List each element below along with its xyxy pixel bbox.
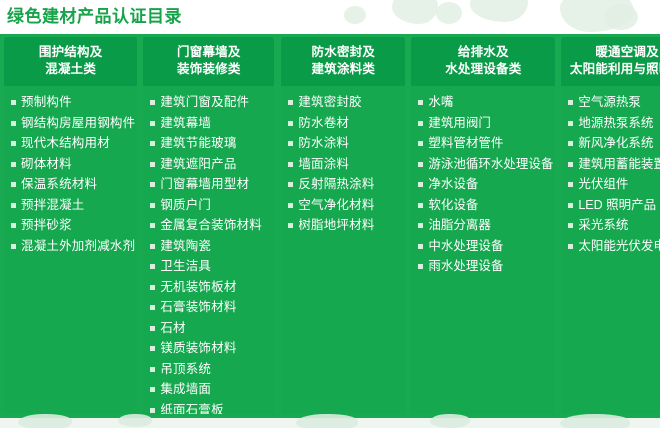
list-item[interactable]: 软化设备 — [411, 197, 555, 214]
list-item-label: 保温系统材料 — [21, 176, 97, 193]
category-column-header[interactable]: 围护结构及混凝土类 — [4, 37, 137, 86]
category-item-list: 空气源热泵地源热泵系统新风净化系统建筑用蓄能装置光伏组件LED 照明产品采光系统… — [561, 86, 660, 414]
list-item[interactable]: 建筑门窗及配件 — [143, 94, 274, 111]
category-item-list: 建筑门窗及配件建筑幕墙建筑节能玻璃建筑遮阳产品门窗幕墙用型材钢质户门金属复合装饰… — [143, 86, 274, 414]
list-item-label: 镁质装饰材料 — [160, 340, 236, 357]
category-item-list: 预制构件钢结构房屋用钢构件现代木结构用材砌体材料保温系统材料预拌混凝土预拌砂浆混… — [4, 86, 137, 414]
list-item-label: 防水涂料 — [298, 135, 349, 152]
list-item[interactable]: 中水处理设备 — [411, 238, 555, 255]
category-header-line: 水处理设备类 — [413, 61, 553, 78]
list-item-label: 建筑用蓄能装置 — [578, 156, 660, 173]
list-item-label: 钢结构房屋用钢构件 — [21, 115, 135, 132]
list-item-label: 建筑幕墙 — [160, 115, 211, 132]
page-title: 绿色建材产品认证目录 — [7, 6, 182, 28]
category-header-line: 装饰装修类 — [145, 61, 272, 78]
list-item-label: 建筑密封胶 — [298, 94, 362, 111]
category-column: 给排水及水处理设备类水嘴建筑用阀门塑料管材管件游泳池循环水处理设备净水设备软化设… — [411, 37, 555, 414]
category-column: 防水密封及建筑涂料类建筑密封胶防水卷材防水涂料墙面涂料反射隔热涂料空气净化材料树… — [281, 37, 405, 414]
watermark-blob — [470, 0, 528, 22]
list-item[interactable]: 吊顶系统 — [143, 361, 274, 378]
square-bullet-icon — [288, 121, 293, 126]
list-item-label: 中水处理设备 — [428, 238, 503, 255]
square-bullet-icon — [11, 100, 16, 105]
list-item[interactable]: 建筑用蓄能装置 — [561, 156, 660, 173]
category-item-list: 水嘴建筑用阀门塑料管材管件游泳池循环水处理设备净水设备软化设备油脂分离器中水处理… — [411, 86, 555, 414]
list-item[interactable]: 保温系统材料 — [4, 176, 137, 193]
list-item[interactable]: 塑料管材管件 — [411, 135, 555, 152]
square-bullet-icon — [418, 100, 423, 105]
list-item[interactable]: 砌体材料 — [4, 156, 137, 173]
list-item[interactable]: 建筑陶瓷 — [143, 238, 274, 255]
square-bullet-icon — [150, 244, 155, 249]
square-bullet-icon — [11, 223, 16, 228]
list-item-label: 塑料管材管件 — [428, 135, 503, 152]
list-item[interactable]: LED 照明产品 — [561, 197, 660, 214]
list-item-label: 砌体材料 — [21, 156, 72, 173]
list-item-label: 空气净化材料 — [298, 197, 374, 214]
square-bullet-icon — [150, 264, 155, 269]
list-item[interactable]: 镁质装饰材料 — [143, 340, 274, 357]
list-item[interactable]: 净水设备 — [411, 176, 555, 193]
list-item-label: 油脂分离器 — [428, 217, 491, 234]
square-bullet-icon — [568, 182, 573, 187]
list-item-label: 太阳能光伏发电系统 — [578, 238, 660, 255]
square-bullet-icon — [418, 182, 423, 187]
list-item[interactable]: 雨水处理设备 — [411, 258, 555, 275]
list-item-label: 建筑遮阳产品 — [160, 156, 236, 173]
list-item-label: 石材 — [160, 320, 185, 337]
catalog-board: 围护结构及混凝土类预制构件钢结构房屋用钢构件现代木结构用材砌体材料保温系统材料预… — [0, 34, 660, 418]
square-bullet-icon — [288, 141, 293, 146]
category-column: 暖通空调及太阳能利用与照明类空气源热泵地源热泵系统新风净化系统建筑用蓄能装置光伏… — [561, 37, 660, 414]
watermark-blob — [344, 6, 366, 24]
list-item-label: LED 照明产品 — [578, 197, 656, 214]
list-item[interactable]: 无机装饰板材 — [143, 279, 274, 296]
square-bullet-icon — [418, 223, 423, 228]
square-bullet-icon — [288, 182, 293, 187]
square-bullet-icon — [568, 223, 573, 228]
category-item-list: 建筑密封胶防水卷材防水涂料墙面涂料反射隔热涂料空气净化材料树脂地坪材料 — [281, 86, 405, 414]
square-bullet-icon — [11, 141, 16, 146]
list-item[interactable]: 纸面石膏板 — [143, 402, 274, 415]
category-column-header[interactable]: 防水密封及建筑涂料类 — [281, 37, 405, 86]
category-header-line: 太阳能利用与照明类 — [563, 61, 660, 78]
square-bullet-icon — [568, 141, 573, 146]
list-item-label: 防水卷材 — [298, 115, 349, 132]
square-bullet-icon — [568, 203, 573, 208]
square-bullet-icon — [418, 264, 423, 269]
list-item[interactable]: 防水卷材 — [281, 115, 405, 132]
list-item-label: 钢质户门 — [160, 197, 211, 214]
square-bullet-icon — [150, 182, 155, 187]
list-item[interactable]: 建筑用阀门 — [411, 115, 555, 132]
square-bullet-icon — [288, 203, 293, 208]
category-header-line: 建筑涂料类 — [283, 61, 403, 78]
square-bullet-icon — [418, 244, 423, 249]
list-item[interactable]: 游泳池循环水处理设备 — [411, 156, 555, 173]
list-item-label: 光伏组件 — [578, 176, 628, 193]
list-item[interactable]: 金属复合装饰材料 — [143, 217, 274, 234]
list-item[interactable]: 集成墙面 — [143, 381, 274, 398]
list-item[interactable]: 水嘴 — [411, 94, 555, 111]
list-item-label: 金属复合装饰材料 — [160, 217, 262, 234]
square-bullet-icon — [288, 100, 293, 105]
square-bullet-icon — [150, 326, 155, 331]
category-column-header[interactable]: 门窗幕墙及装饰装修类 — [143, 37, 274, 86]
list-item[interactable]: 预拌砂浆 — [4, 217, 137, 234]
list-item-label: 混凝土外加剂减水剂 — [21, 238, 135, 255]
list-item-label: 卫生洁具 — [160, 258, 211, 275]
list-item-label: 预拌砂浆 — [21, 217, 72, 234]
list-item[interactable]: 新风净化系统 — [561, 135, 660, 152]
list-item[interactable]: 预拌混凝土 — [4, 197, 137, 214]
list-item[interactable]: 石材 — [143, 320, 274, 337]
category-column-header[interactable]: 给排水及水处理设备类 — [411, 37, 555, 86]
square-bullet-icon — [150, 141, 155, 146]
list-item-label: 空气源热泵 — [578, 94, 641, 111]
list-item[interactable]: 石膏装饰材料 — [143, 299, 274, 316]
square-bullet-icon — [288, 223, 293, 228]
list-item[interactable]: 防水涂料 — [281, 135, 405, 152]
list-item[interactable]: 地源热泵系统 — [561, 115, 660, 132]
watermark-blob — [296, 414, 358, 428]
square-bullet-icon — [418, 203, 423, 208]
list-item[interactable]: 建筑遮阳产品 — [143, 156, 274, 173]
list-item-label: 吊顶系统 — [160, 361, 211, 378]
list-item-label: 软化设备 — [428, 197, 478, 214]
list-item-label: 建筑用阀门 — [428, 115, 491, 132]
watermark-blob — [430, 414, 470, 428]
category-column: 围护结构及混凝土类预制构件钢结构房屋用钢构件现代木结构用材砌体材料保温系统材料预… — [4, 37, 137, 414]
list-item[interactable]: 太阳能光伏发电系统 — [561, 238, 660, 255]
list-item-label: 现代木结构用材 — [21, 135, 110, 152]
list-item-label: 预拌混凝土 — [21, 197, 85, 214]
list-item[interactable]: 卫生洁具 — [143, 258, 274, 275]
list-item-label: 水嘴 — [428, 94, 453, 111]
square-bullet-icon — [418, 141, 423, 146]
square-bullet-icon — [11, 162, 16, 167]
list-item-label: 净水设备 — [428, 176, 478, 193]
list-item[interactable]: 空气净化材料 — [281, 197, 405, 214]
category-header-line: 门窗幕墙及 — [145, 44, 272, 61]
square-bullet-icon — [568, 100, 573, 105]
list-item[interactable]: 钢结构房屋用钢构件 — [4, 115, 137, 132]
category-column-header[interactable]: 暖通空调及太阳能利用与照明类 — [561, 37, 660, 86]
watermark-blob — [118, 414, 152, 427]
square-bullet-icon — [11, 244, 16, 249]
list-item[interactable]: 建筑幕墙 — [143, 115, 274, 132]
list-item[interactable]: 空气源热泵 — [561, 94, 660, 111]
square-bullet-icon — [11, 121, 16, 126]
watermark-blob — [604, 4, 638, 30]
list-item[interactable]: 建筑密封胶 — [281, 94, 405, 111]
square-bullet-icon — [150, 387, 155, 392]
square-bullet-icon — [11, 182, 16, 187]
square-bullet-icon — [418, 162, 423, 167]
list-item-label: 游泳池循环水处理设备 — [428, 156, 553, 173]
bottom-decoration-strip — [0, 418, 660, 428]
square-bullet-icon — [568, 244, 573, 249]
list-item-label: 无机装饰板材 — [160, 279, 236, 296]
list-item-label: 集成墙面 — [160, 381, 211, 398]
square-bullet-icon — [150, 203, 155, 208]
square-bullet-icon — [150, 162, 155, 167]
list-item-label: 建筑门窗及配件 — [160, 94, 249, 111]
square-bullet-icon — [150, 285, 155, 290]
list-item-label: 树脂地坪材料 — [298, 217, 374, 234]
list-item-label: 建筑节能玻璃 — [160, 135, 236, 152]
square-bullet-icon — [418, 121, 423, 126]
list-item-label: 墙面涂料 — [298, 156, 349, 173]
watermark-blob — [392, 0, 438, 24]
list-item[interactable]: 光伏组件 — [561, 176, 660, 193]
list-item-label: 预制构件 — [21, 94, 72, 111]
square-bullet-icon — [150, 408, 155, 413]
square-bullet-icon — [288, 162, 293, 167]
list-item-label: 新风净化系统 — [578, 135, 653, 152]
list-item-label: 石膏装饰材料 — [160, 299, 236, 316]
list-item[interactable]: 墙面涂料 — [281, 156, 405, 173]
square-bullet-icon — [150, 346, 155, 351]
list-item[interactable]: 混凝土外加剂减水剂 — [4, 238, 137, 255]
list-item-label: 反射隔热涂料 — [298, 176, 374, 193]
list-item[interactable]: 建筑节能玻璃 — [143, 135, 274, 152]
square-bullet-icon — [150, 121, 155, 126]
catalog-page: 绿色建材产品认证目录 围护结构及混凝土类预制构件钢结构房屋用钢构件现代木结构用材… — [0, 0, 660, 428]
square-bullet-icon — [11, 203, 16, 208]
list-item[interactable]: 钢质户门 — [143, 197, 274, 214]
square-bullet-icon — [568, 121, 573, 126]
list-item[interactable]: 树脂地坪材料 — [281, 217, 405, 234]
list-item[interactable]: 现代木结构用材 — [4, 135, 137, 152]
list-item-label: 建筑陶瓷 — [160, 238, 211, 255]
list-item-label: 地源热泵系统 — [578, 115, 653, 132]
list-item-label: 纸面石膏板 — [160, 402, 224, 415]
watermark-blob — [560, 414, 630, 428]
square-bullet-icon — [150, 367, 155, 372]
square-bullet-icon — [150, 223, 155, 228]
square-bullet-icon — [568, 162, 573, 167]
category-header-line: 围护结构及 — [6, 44, 135, 61]
category-header-line: 混凝土类 — [6, 61, 135, 78]
list-item-label: 雨水处理设备 — [428, 258, 503, 275]
watermark-blob — [436, 2, 462, 24]
square-bullet-icon — [150, 305, 155, 310]
category-header-line: 暖通空调及 — [563, 44, 660, 61]
list-item-label: 采光系统 — [578, 217, 628, 234]
category-header-line: 给排水及 — [413, 44, 553, 61]
list-item[interactable]: 门窗幕墙用型材 — [143, 176, 274, 193]
list-item-label: 门窗幕墙用型材 — [160, 176, 249, 193]
list-item[interactable]: 反射隔热涂料 — [281, 176, 405, 193]
list-item[interactable]: 预制构件 — [4, 94, 137, 111]
square-bullet-icon — [150, 100, 155, 105]
category-header-line: 防水密封及 — [283, 44, 403, 61]
category-column: 门窗幕墙及装饰装修类建筑门窗及配件建筑幕墙建筑节能玻璃建筑遮阳产品门窗幕墙用型材… — [143, 37, 274, 414]
list-item[interactable]: 采光系统 — [561, 217, 660, 234]
watermark-blob — [560, 0, 634, 32]
watermark-blob — [18, 414, 72, 428]
list-item[interactable]: 油脂分离器 — [411, 217, 555, 234]
